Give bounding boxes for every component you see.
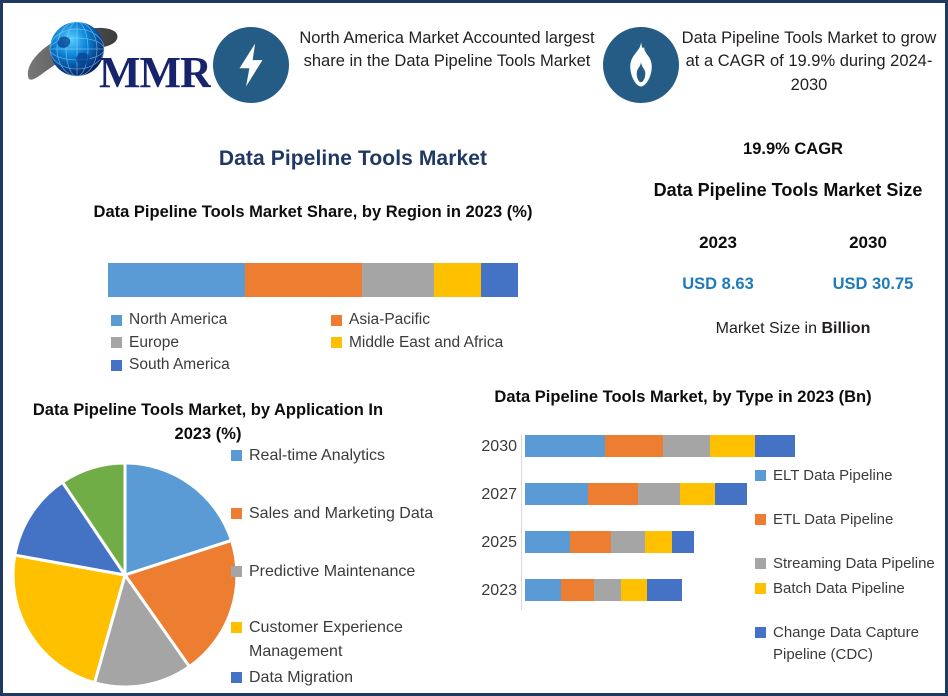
market-size-year-forecast: 2030 bbox=[813, 233, 923, 253]
legend-swatch-icon bbox=[111, 337, 122, 348]
legend-item-data-migration: Data Migration bbox=[231, 666, 471, 690]
bar-segment-etl bbox=[561, 579, 594, 601]
legend-label: Real-time Analytics bbox=[249, 444, 385, 468]
header-callout-right: Data Pipeline Tools Market to grow at a … bbox=[681, 27, 937, 97]
legend-item-batch-data-pipeline: Batch Data Pipeline bbox=[755, 578, 945, 600]
bar-segment-batch bbox=[621, 579, 647, 601]
legend-label: Sales and Marketing Data bbox=[249, 502, 433, 526]
legend-item-predictive-maintenance: Predictive Maintenance bbox=[231, 560, 471, 584]
table-row bbox=[525, 483, 747, 505]
cagr-value: 19.9% CAGR bbox=[643, 140, 943, 159]
legend-swatch-icon bbox=[231, 508, 242, 519]
region-segment-north-america bbox=[108, 263, 245, 297]
legend-label: Predictive Maintenance bbox=[249, 560, 415, 584]
bar-segment-batch bbox=[645, 531, 672, 553]
mmr-logo: MMR bbox=[21, 13, 211, 105]
bar-segment-batch bbox=[710, 435, 755, 457]
application-chart-title: Data Pipeline Tools Market, by Applicati… bbox=[23, 399, 393, 447]
infographic-page: MMR North America Market Accounted large… bbox=[0, 0, 948, 696]
bar-segment-etl bbox=[605, 435, 663, 457]
legend-label: Customer Experience Management bbox=[249, 616, 471, 664]
lightning-bolt-icon bbox=[213, 27, 289, 103]
table-row bbox=[525, 531, 694, 553]
type-chart-title: Data Pipeline Tools Market, by Type in 2… bbox=[483, 386, 883, 410]
legend-label: ETL Data Pipeline bbox=[773, 509, 893, 531]
bar-segment-cdc bbox=[672, 531, 694, 553]
bar-segment-streaming bbox=[638, 483, 680, 505]
region-chart-title: Data Pipeline Tools Market Share, by Reg… bbox=[63, 201, 563, 225]
market-size-year-base: 2023 bbox=[663, 233, 773, 253]
legend-item-elt-data-pipeline: ELT Data Pipeline bbox=[755, 465, 945, 487]
legend-label: Streaming Data Pipeline bbox=[773, 553, 935, 575]
legend-item-customer-experience-management: Customer Experience Management bbox=[231, 616, 471, 664]
bar-segment-elt bbox=[525, 435, 605, 457]
legend-item-streaming-data-pipeline: Streaming Data Pipeline bbox=[755, 553, 945, 575]
legend-item-sales-marketing-data: Sales and Marketing Data bbox=[231, 502, 471, 526]
region-segment-mea bbox=[434, 263, 481, 297]
legend-item-asia-pacific: Asia-Pacific bbox=[331, 311, 551, 330]
legend-label: Data Migration bbox=[249, 666, 353, 690]
legend-label: North America bbox=[129, 311, 227, 330]
svg-text:MMR: MMR bbox=[99, 48, 211, 97]
application-pie-chart bbox=[13, 451, 237, 696]
unit-bold: Billion bbox=[821, 320, 870, 337]
region-segment-asia-pacific bbox=[245, 263, 362, 297]
bar-segment-cdc bbox=[715, 483, 747, 505]
bar-segment-cdc bbox=[647, 579, 682, 601]
legend-item-real-time-analytics: Real-time Analytics bbox=[231, 444, 471, 468]
legend-swatch-icon bbox=[231, 622, 242, 633]
table-row bbox=[525, 579, 682, 601]
axis-label-2023: 2023 bbox=[457, 582, 517, 600]
bar-segment-elt bbox=[525, 483, 588, 505]
market-size-value-base: USD 8.63 bbox=[658, 275, 778, 294]
legend-label: Batch Data Pipeline bbox=[773, 578, 905, 600]
axis-label-2025: 2025 bbox=[457, 534, 517, 552]
region-share-bar bbox=[108, 263, 518, 297]
type-chart-axis-labels: 2030 2027 2025 2023 bbox=[455, 435, 517, 610]
legend-swatch-icon bbox=[231, 450, 242, 461]
legend-label: ELT Data Pipeline bbox=[773, 465, 893, 487]
application-legend: Real-time Analytics Sales and Marketing … bbox=[231, 444, 471, 690]
legend-swatch-icon bbox=[755, 627, 766, 638]
type-legend: ELT Data Pipeline ETL Data Pipeline Stre… bbox=[755, 465, 945, 680]
legend-swatch-icon bbox=[231, 566, 242, 577]
unit-prefix: Market Size in bbox=[716, 320, 822, 337]
globe-icon: MMR bbox=[21, 13, 211, 105]
legend-label: Asia-Pacific bbox=[349, 311, 430, 330]
flame-glyph bbox=[624, 42, 658, 88]
legend-label: Europe bbox=[129, 334, 179, 353]
legend-item-mea: Middle East and Africa bbox=[331, 334, 551, 353]
legend-item-south-america: South America bbox=[111, 356, 331, 375]
axis-label-2027: 2027 bbox=[457, 486, 517, 504]
market-size-title: Data Pipeline Tools Market Size bbox=[633, 178, 943, 202]
bar-segment-streaming bbox=[611, 531, 645, 553]
legend-item-etl-data-pipeline: ETL Data Pipeline bbox=[755, 509, 945, 531]
legend-label: Change Data Capture Pipeline (CDC) bbox=[773, 622, 945, 666]
legend-swatch-icon bbox=[111, 315, 122, 326]
bar-segment-etl bbox=[588, 483, 638, 505]
legend-swatch-icon bbox=[755, 583, 766, 594]
legend-swatch-icon bbox=[331, 337, 342, 348]
page-title: Data Pipeline Tools Market bbox=[3, 147, 703, 171]
bar-segment-batch bbox=[680, 483, 715, 505]
axis-label-2030: 2030 bbox=[457, 438, 517, 456]
market-size-unit: Market Size in Billion bbox=[643, 320, 943, 338]
legend-swatch-icon bbox=[231, 672, 242, 683]
legend-swatch-icon bbox=[111, 360, 122, 371]
region-segment-europe bbox=[362, 263, 434, 297]
legend-swatch-icon bbox=[755, 514, 766, 525]
bar-segment-elt bbox=[525, 531, 570, 553]
bar-segment-etl bbox=[570, 531, 611, 553]
legend-swatch-icon bbox=[755, 558, 766, 569]
legend-swatch-icon bbox=[331, 315, 342, 326]
legend-item-north-america: North America bbox=[111, 311, 331, 330]
region-legend: North America Asia-Pacific Europe Middle… bbox=[111, 311, 551, 379]
bar-segment-elt bbox=[525, 579, 561, 601]
region-segment-south-america bbox=[481, 263, 518, 297]
legend-item-europe: Europe bbox=[111, 334, 331, 353]
lightning-bolt-glyph bbox=[231, 42, 271, 88]
bar-segment-streaming bbox=[594, 579, 621, 601]
header-callout-left: North America Market Accounted largest s… bbox=[299, 27, 595, 74]
bar-segment-cdc bbox=[755, 435, 795, 457]
legend-item-cdc-pipeline: Change Data Capture Pipeline (CDC) bbox=[755, 622, 945, 666]
market-size-value-forecast: USD 30.75 bbox=[808, 275, 938, 294]
bar-segment-streaming bbox=[663, 435, 710, 457]
legend-label: Middle East and Africa bbox=[349, 334, 503, 353]
legend-label: South America bbox=[129, 356, 230, 375]
flame-icon bbox=[603, 27, 679, 103]
table-row bbox=[525, 435, 795, 457]
legend-swatch-icon bbox=[755, 470, 766, 481]
